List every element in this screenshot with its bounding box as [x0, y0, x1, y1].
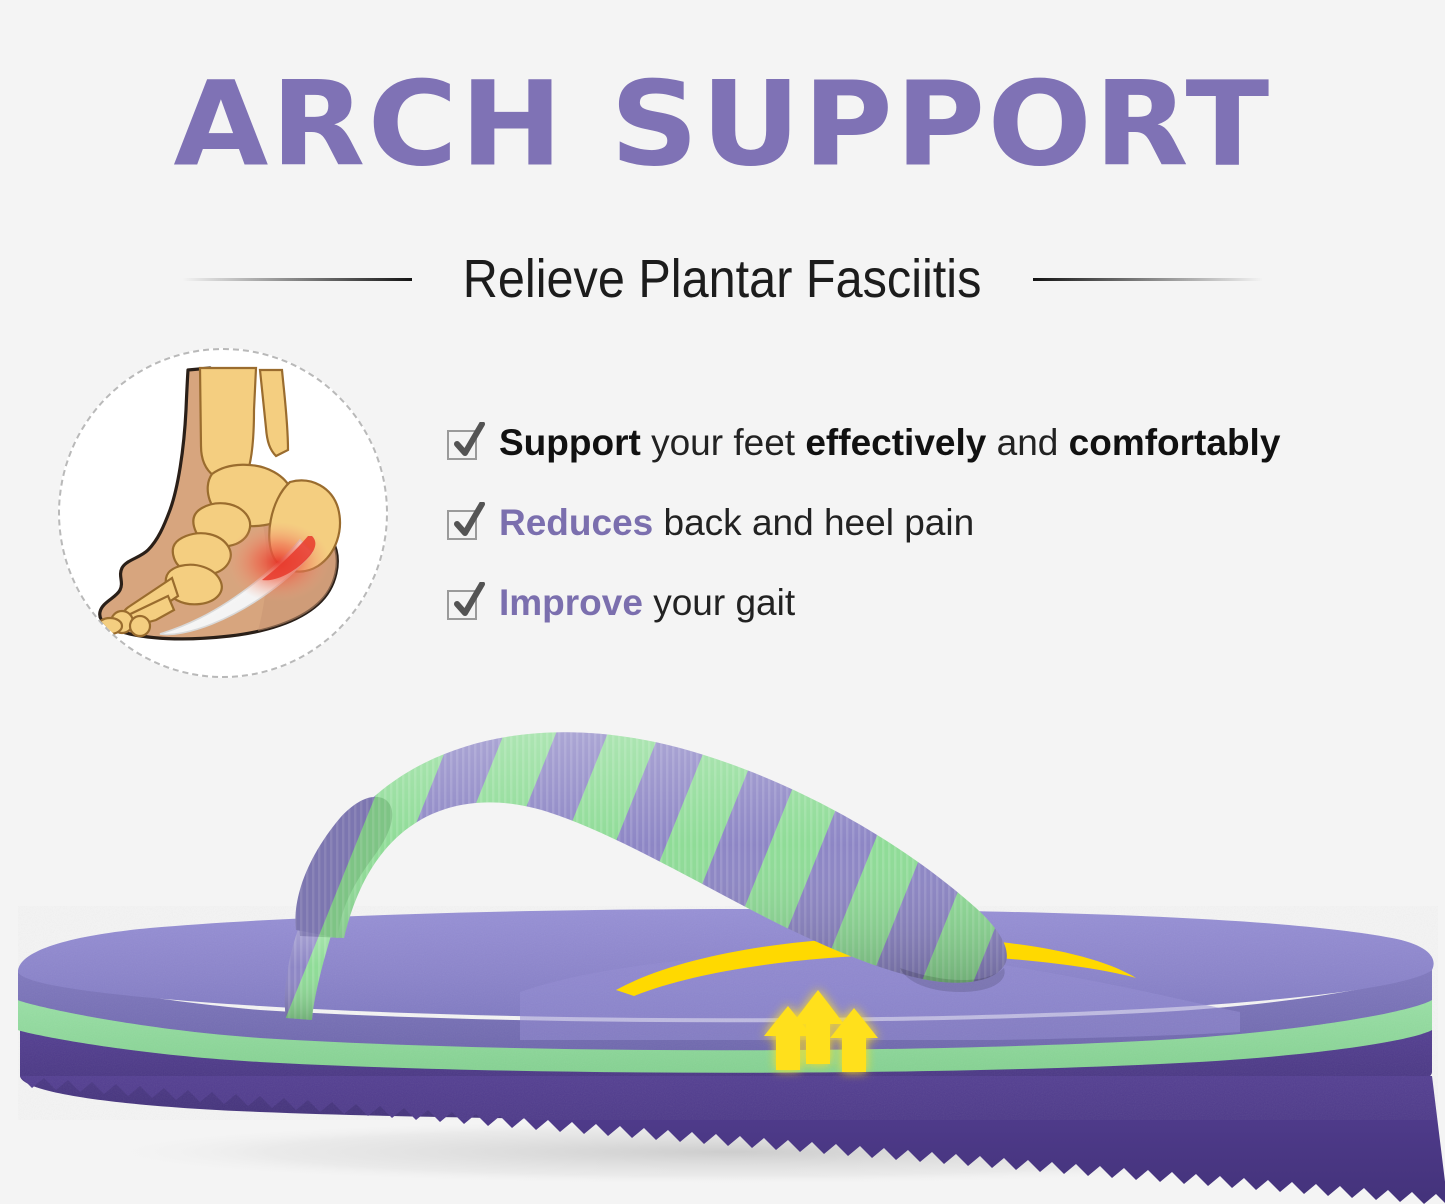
foam-texture — [18, 906, 1438, 1120]
subtitle-rule-left — [182, 278, 412, 281]
bone-phalanx-3 — [98, 618, 122, 634]
benefit-text-1: Support your feet effectively and comfor… — [499, 420, 1280, 466]
bone-tibia — [200, 368, 256, 476]
subtitle-rule-right — [1033, 278, 1263, 281]
benefit-1-seg-4: comfortably — [1069, 422, 1281, 463]
bone-phalanx-2 — [130, 616, 150, 636]
inflammation-glow — [226, 522, 330, 602]
benefit-2-seg-1: back and heel pain — [653, 502, 974, 543]
page-subtitle: Relieve Plantar Fasciitis — [463, 248, 982, 310]
sandal-svg — [0, 700, 1445, 1204]
subtitle-row: Relieve Plantar Fasciitis — [0, 248, 1445, 310]
benefit-text-2: Reduces back and heel pain — [499, 500, 974, 546]
product-image-sandal — [0, 700, 1445, 1204]
foot-anatomy-illustration — [58, 348, 388, 678]
benefit-1-seg-1: your feet — [641, 422, 806, 463]
page-title: ARCH SUPPORT — [0, 66, 1445, 182]
benefit-1-seg-0: Support — [499, 422, 641, 463]
checkbox-checked-icon — [447, 508, 481, 542]
benefit-3-seg-0: Improve — [499, 582, 643, 623]
list-item: Support your feet effectively and comfor… — [447, 420, 1407, 500]
foot-anatomy-svg — [60, 350, 388, 678]
list-item: Improve your gait — [447, 580, 1407, 660]
checkbox-checked-icon — [447, 588, 481, 622]
benefit-text-3: Improve your gait — [499, 580, 795, 626]
benefit-2-seg-0: Reduces — [499, 502, 653, 543]
benefit-1-seg-3: and — [986, 422, 1068, 463]
list-item: Reduces back and heel pain — [447, 500, 1407, 580]
benefit-1-seg-2: effectively — [805, 422, 986, 463]
benefits-list: Support your feet effectively and comfor… — [447, 420, 1407, 660]
bone-fibula — [260, 370, 288, 456]
checkbox-checked-icon — [447, 428, 481, 462]
benefit-3-seg-1: your gait — [643, 582, 795, 623]
